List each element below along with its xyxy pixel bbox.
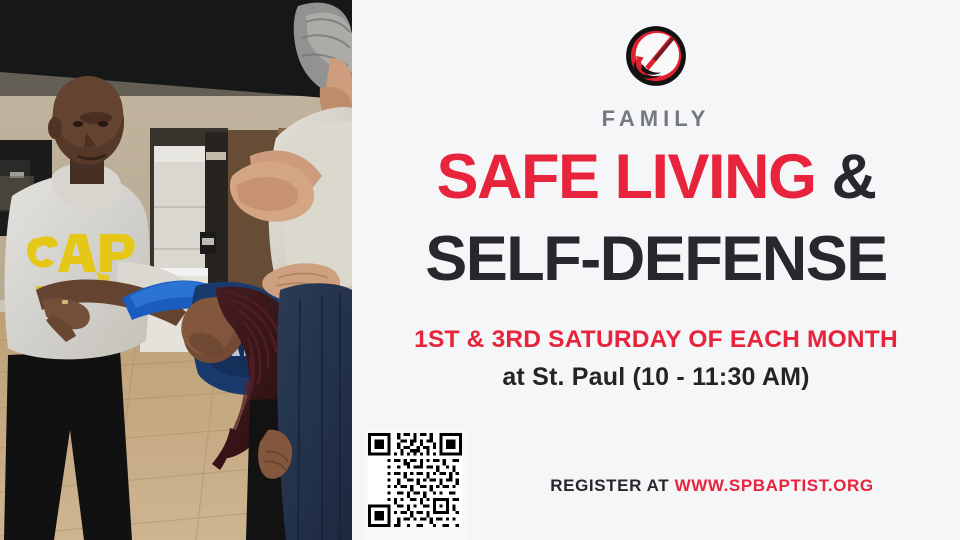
register-url[interactable]: WWW.SPBAPTIST.ORG [675,476,874,495]
poster-root: FAMILY SAFE LIVING & SELF-DEFENSE 1ST & … [0,0,960,540]
schedule-location-time: at St. Paul (10 - 11:30 AM) [352,363,960,392]
headline-safe-living: SAFE LIVING [436,142,815,212]
poster-content-panel: FAMILY SAFE LIVING & SELF-DEFENSE 1ST & … [352,0,960,540]
qr-code-icon [368,433,462,527]
register-line[interactable]: REGISTER AT WWW.SPBAPTIST.ORG [482,476,942,496]
class-photo [0,0,352,540]
logo-container [352,22,960,90]
cap-self-defense-logo-icon [622,22,690,90]
kicker-family: FAMILY [352,106,960,132]
headline-line-1: SAFE LIVING & [352,146,960,209]
class-photo-illustration [0,0,352,540]
headline-ampersand: & [816,142,876,212]
registration-qr-code[interactable] [363,428,467,540]
headline-line-2: SELF-DEFENSE [352,228,960,291]
register-prefix: REGISTER AT [550,476,674,495]
schedule-days: 1ST & 3RD SATURDAY OF EACH MONTH [352,326,960,354]
